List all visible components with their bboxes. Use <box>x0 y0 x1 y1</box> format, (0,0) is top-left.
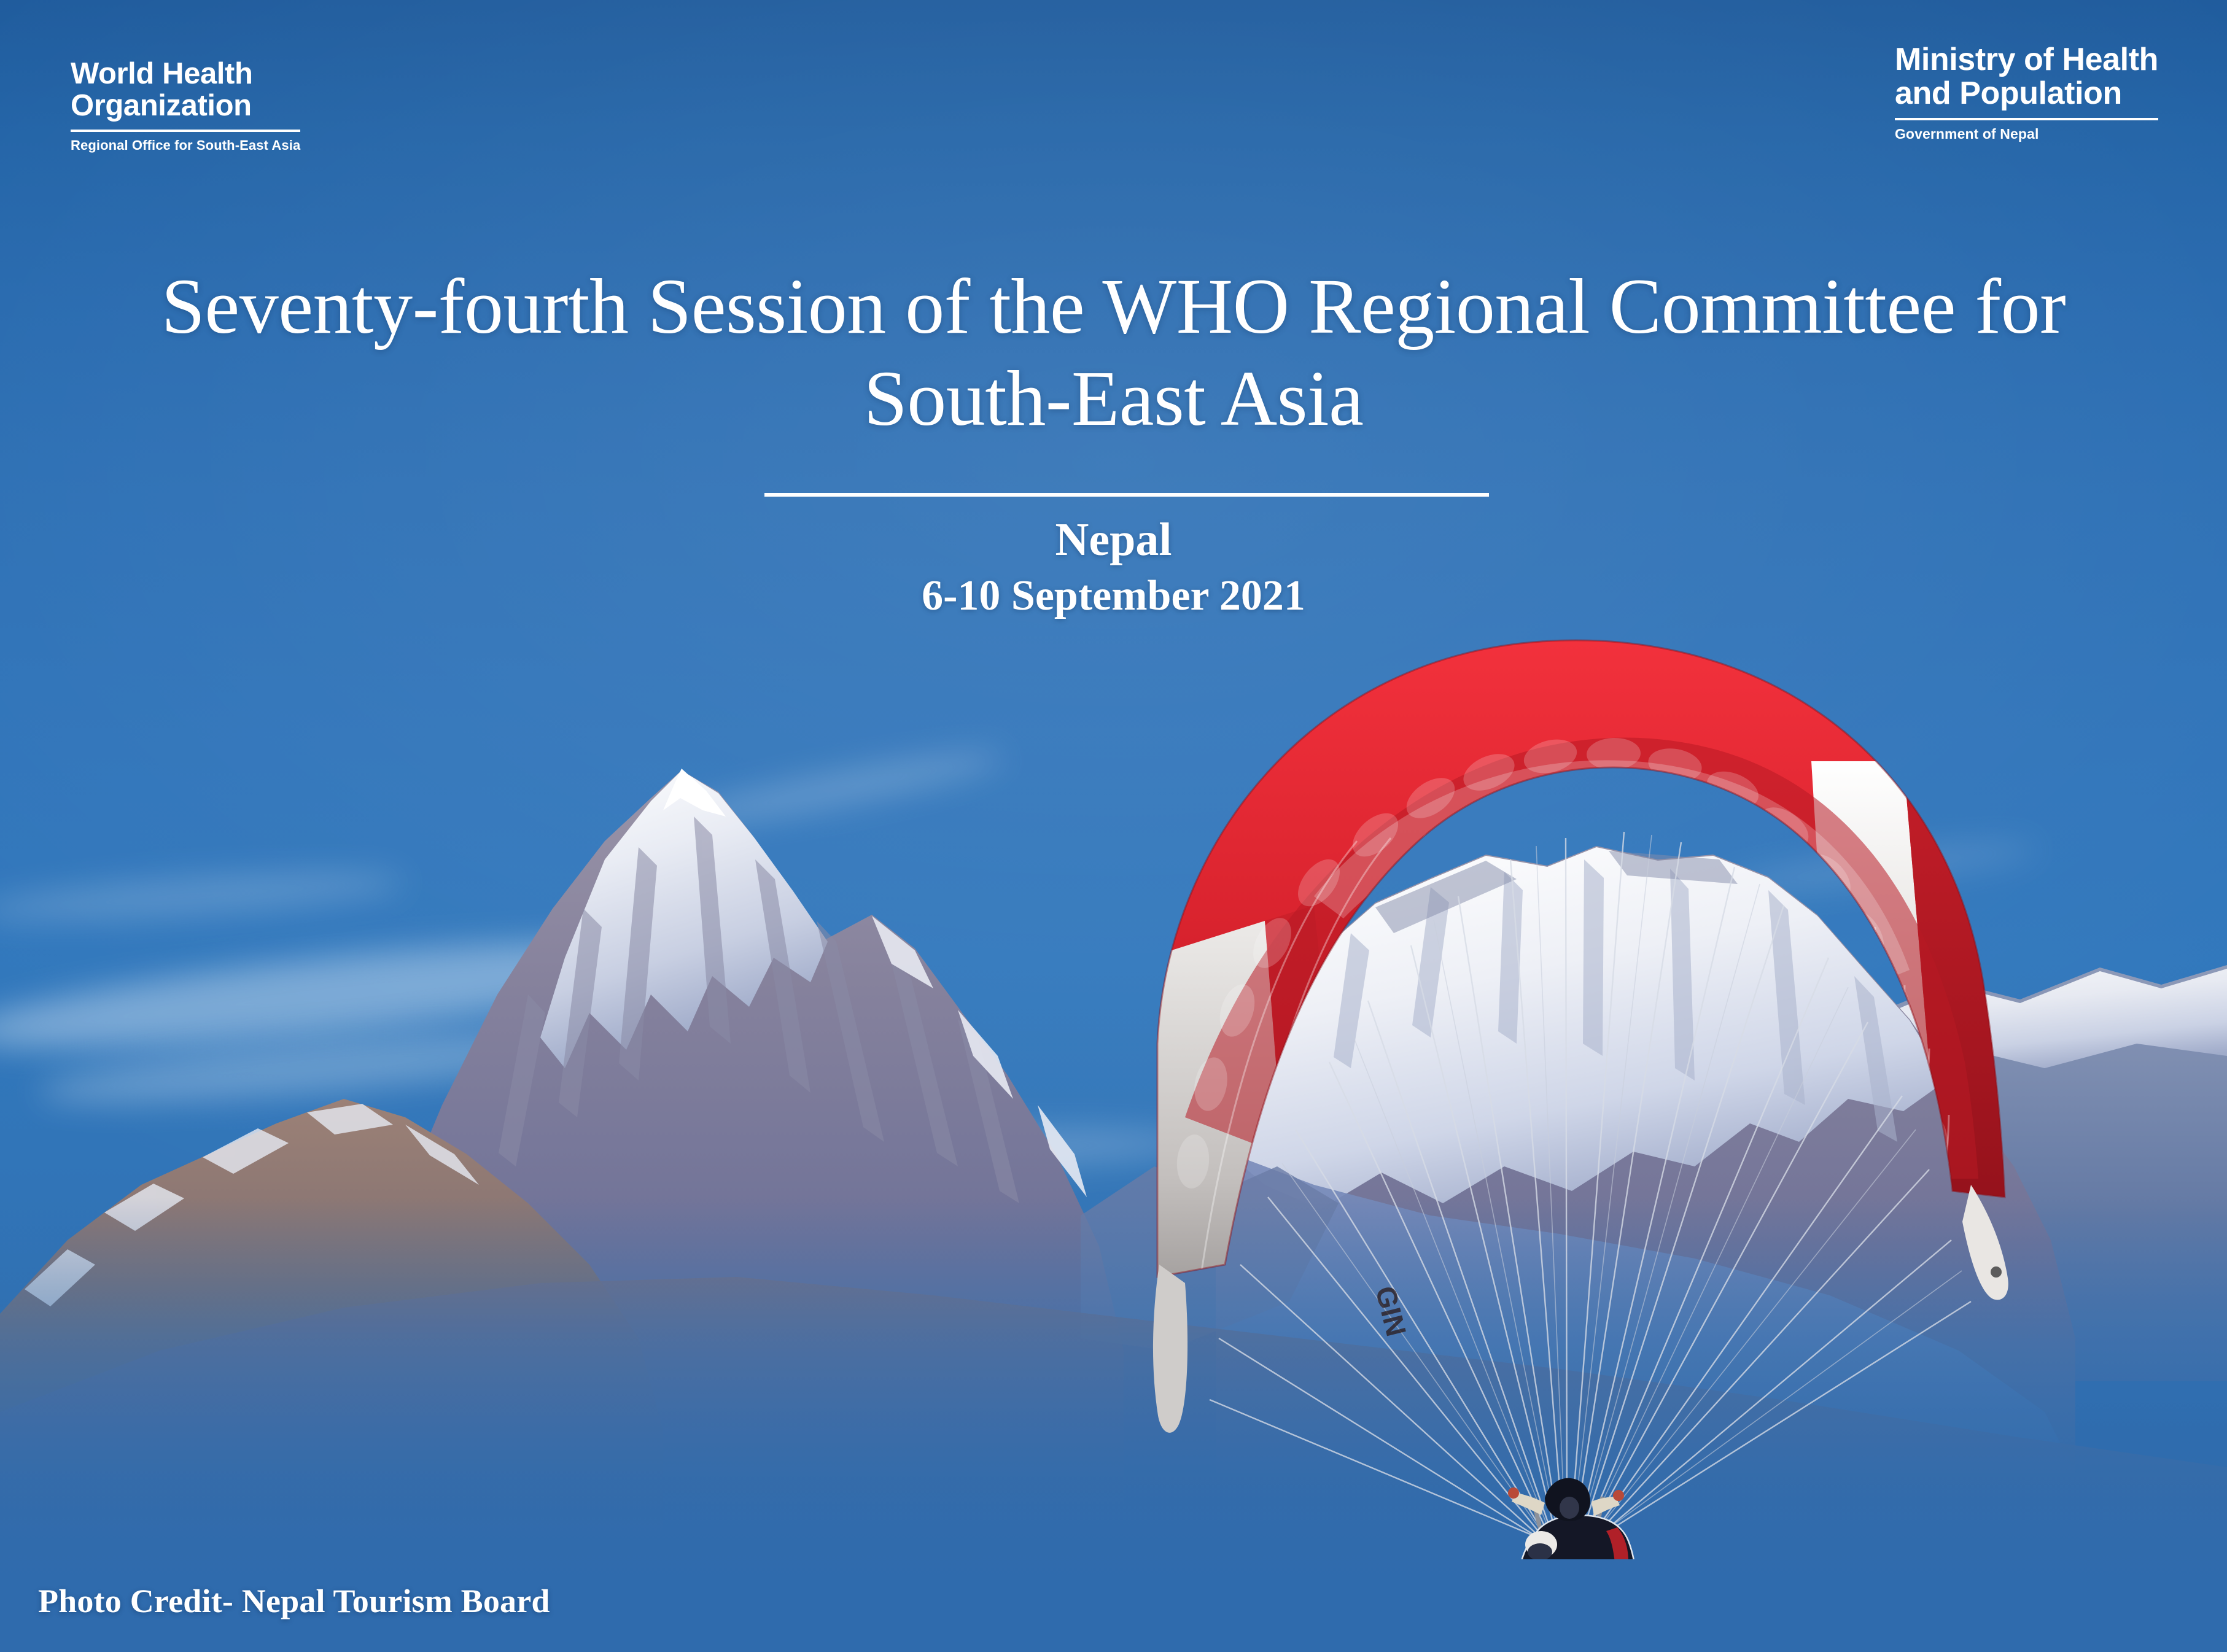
poster-canvas: GIN <box>0 0 2227 1652</box>
ministry-logo-subtitle: Government of Nepal <box>1895 126 2158 142</box>
event-place: Nepal <box>0 514 2227 566</box>
canopy-left-tip <box>1153 1265 1187 1433</box>
canopy-right-tip <box>1962 1185 2008 1300</box>
who-logo-rule <box>71 130 300 132</box>
who-logo: World Health Organization Regional Offic… <box>71 58 300 153</box>
page-title: Seventy-fourth Session of the WHO Region… <box>0 261 2227 445</box>
photo-credit: Photo Credit- Nepal Tourism Board <box>38 1582 550 1620</box>
who-logo-line1: World Health <box>71 58 300 90</box>
title-divider <box>764 493 1489 497</box>
ministry-logo-line1: Ministry of Health <box>1895 43 2158 77</box>
who-logo-subtitle: Regional Office for South-East Asia <box>71 138 300 153</box>
who-logo-line2: Organization <box>71 90 300 122</box>
ministry-logo-rule <box>1895 118 2158 120</box>
paraglider: GIN <box>1111 577 2032 1559</box>
paraglider-canopy: GIN <box>1148 640 2014 1433</box>
ministry-logo-line2: and Population <box>1895 77 2158 111</box>
ministry-logo: Ministry of Health and Population Govern… <box>1895 43 2158 142</box>
event-dates: 6-10 September 2021 <box>0 572 2227 619</box>
